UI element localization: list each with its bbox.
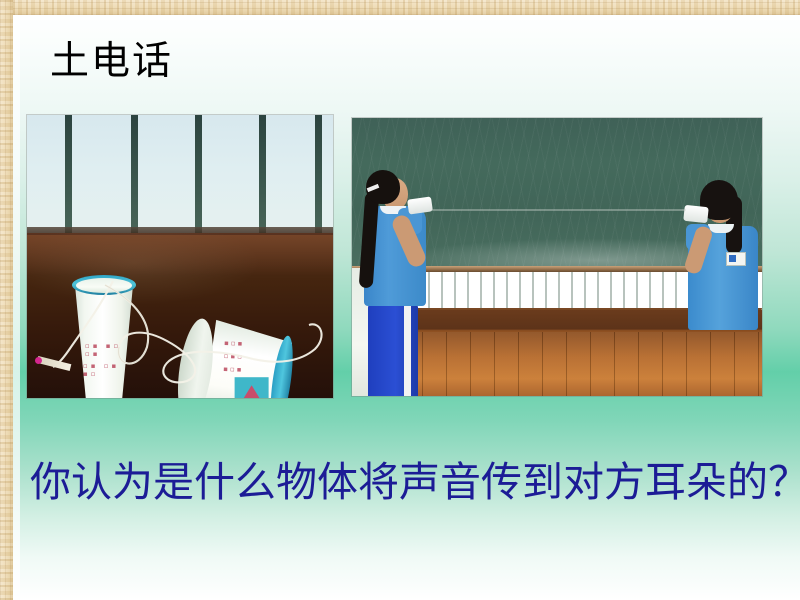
photo1-cup-tipped-text: ▪▫▪▫▪▫▪▫▪ (223, 337, 245, 377)
photo1-matchstick-head (35, 357, 42, 364)
frame-inner-gap-top (13, 15, 800, 20)
classroom-demo-photo (352, 118, 762, 396)
frame-inner-gap-left (13, 15, 20, 600)
frame-border-top (0, 0, 800, 15)
photo1-window-bar (195, 115, 202, 237)
photo1-cup-upright-opening (76, 278, 132, 293)
slide-title: 土电话 (50, 38, 173, 86)
photo1-window-bar (65, 115, 72, 237)
photo2-student-left-pants-stripe (404, 304, 411, 396)
photo1-cup-upright-text: ▫▪ ▫▪ ▪▫ (83, 362, 139, 378)
frame-border-left (0, 0, 13, 600)
photo1-cup-tipped-logo (235, 377, 269, 398)
photo1-cup-upright-text: ▫▪ ▪▫ ▫▪ (85, 342, 139, 358)
photo2-student-left (360, 170, 446, 396)
photo2-student-right-paper-cup (683, 205, 709, 223)
photo1-cup-upright-body (69, 281, 139, 398)
photo1-window-bar (315, 115, 322, 237)
photo1-window-bar (131, 115, 138, 237)
photo2-student-right-badge (726, 252, 746, 266)
photo2-student-left-paper-cup (407, 196, 433, 214)
photo1-window-bar (259, 115, 266, 237)
photo2-student-right (682, 180, 760, 396)
slide-canvas: 土电话 ▫▪ ▪▫ ▫▪ ▫▪ ▫▪ ▪▫ ▪▫▪▫▪▫▪▫▪ (0, 0, 800, 600)
slide-question-text: 你认为是什么物体将声音传到对方耳朵的？ (30, 457, 800, 507)
photo1-cup-upright: ▫▪ ▪▫ ▫▪ ▫▪ ▫▪ ▪▫ (69, 267, 139, 398)
photo1-wall (27, 115, 333, 235)
paper-cup-telephone-photo: ▫▪ ▪▫ ▫▪ ▫▪ ▫▪ ▪▫ ▪▫▪▫▪▫▪▫▪ (27, 115, 333, 398)
